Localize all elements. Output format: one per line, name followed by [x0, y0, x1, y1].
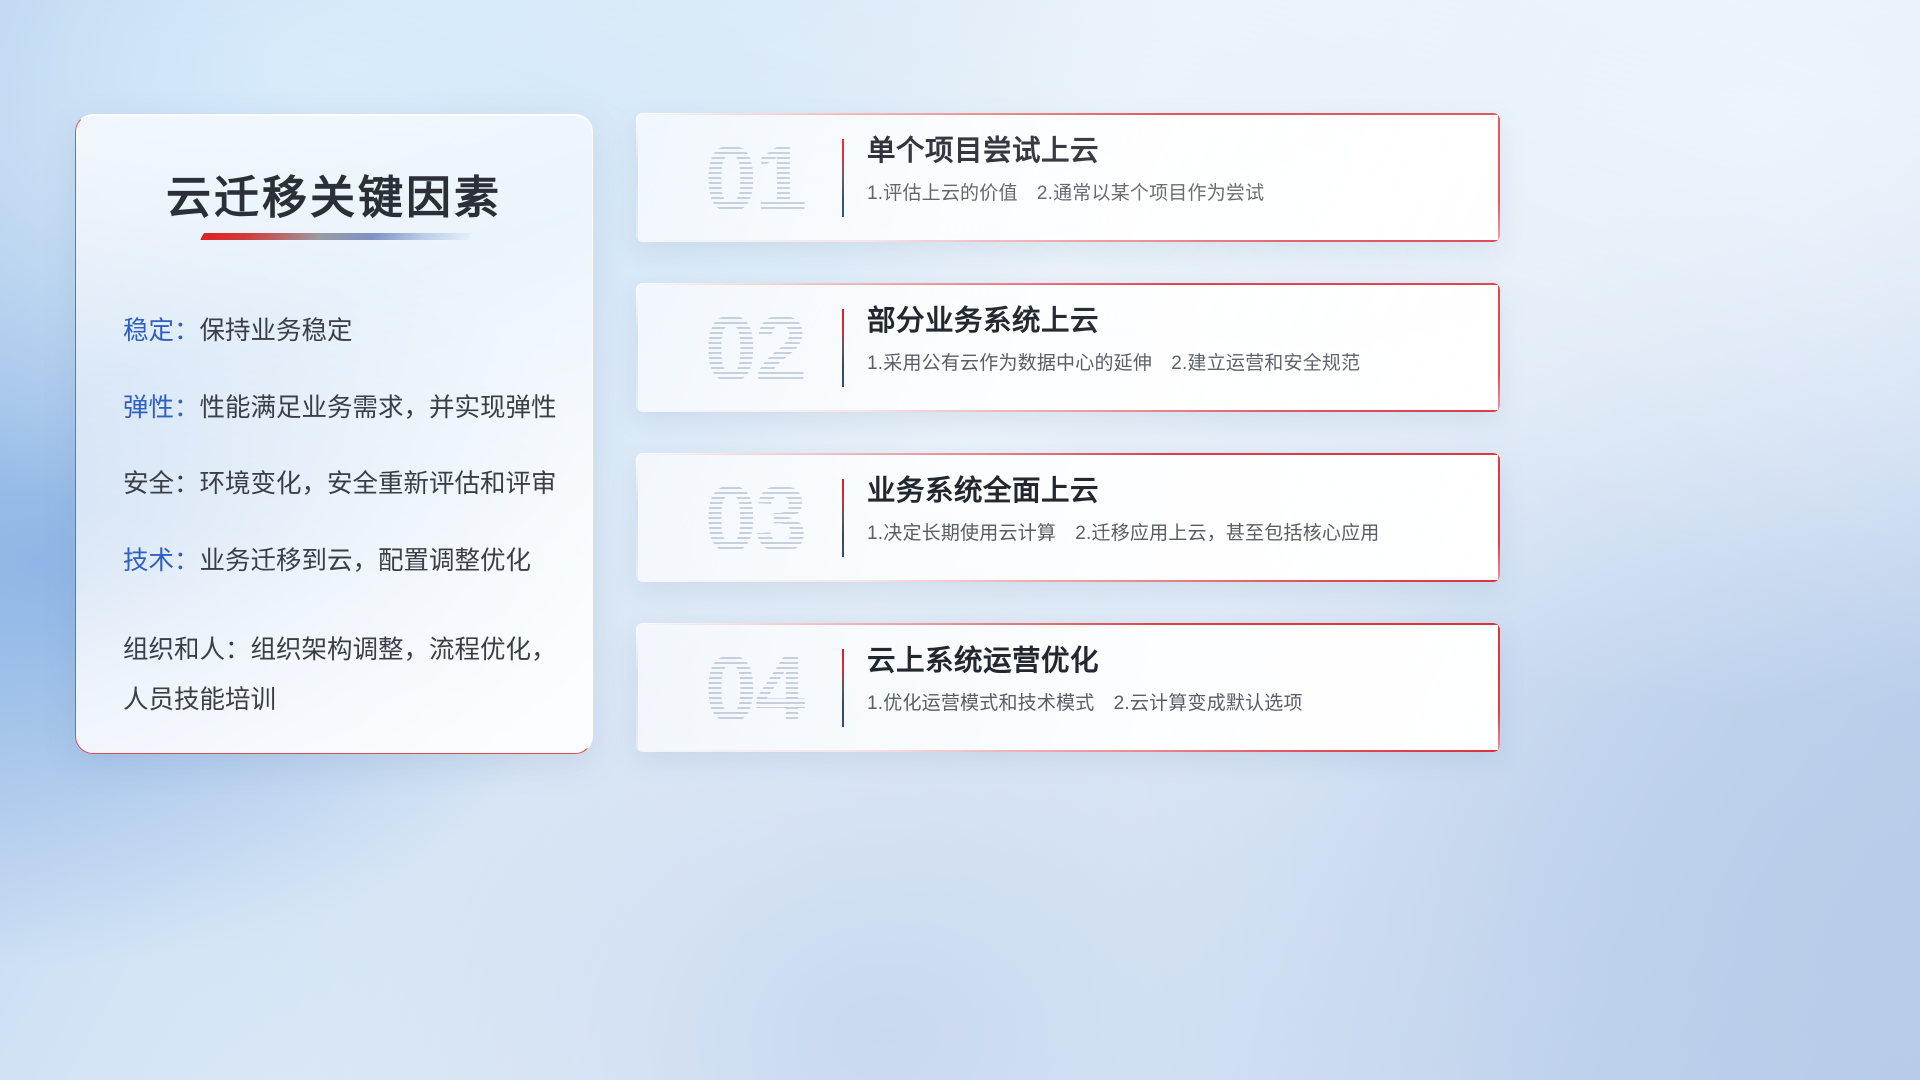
stage-number-watermark: 01 [661, 127, 849, 231]
card-top-border [636, 623, 1500, 625]
factor-key: 稳定： [123, 317, 200, 345]
list-item: 稳定：保持业务稳定 [123, 319, 564, 345]
list-item: 组织和人：组织架构调整，流程优化，人员技能培训 [123, 625, 564, 726]
factor-list: 稳定：保持业务稳定 弹性：性能满足业务需求，并实现弹性 安全：环境变化，安全重新… [123, 319, 564, 726]
card-divider-bar [842, 649, 844, 727]
card-bottom-border [636, 240, 1500, 242]
card-divider-bar [842, 309, 844, 387]
factor-key: 组织和人： [123, 636, 251, 664]
title-underline-rule [200, 233, 472, 240]
card-bottom-border [636, 750, 1500, 752]
card-left-border [636, 623, 638, 752]
factor-value: 环境变化，安全重新评估和评审 [200, 470, 557, 498]
card-divider-bar [842, 139, 844, 217]
stage-card[interactable]: 01 单个项目尝试上云 1.评估上云的价值 2.通常以某个项目作为尝试 [636, 113, 1500, 242]
stage-card[interactable]: 04 云上系统运营优化 1.优化运营模式和技术模式 2.云计算变成默认选项 [636, 623, 1500, 752]
card-top-border [636, 283, 1500, 285]
card-left-border [636, 453, 638, 582]
list-item: 安全：环境变化，安全重新评估和评审 [123, 472, 564, 498]
slide-canvas: 云迁移关键因素 稳定：保持业务稳定 弹性：性能满足业务需求，并实现弹性 安全：环… [0, 0, 1920, 1080]
card-right-border [1498, 283, 1500, 412]
card-title: 单个项目尝试上云 [867, 134, 1474, 170]
factor-value: 保持业务稳定 [200, 317, 353, 345]
card-left-border [636, 283, 638, 412]
factor-key: 安全： [123, 470, 200, 498]
card-body: 业务系统全面上云 1.决定长期使用云计算 2.迁移应用上云，甚至包括核心应用 [867, 474, 1474, 546]
card-right-border [1498, 623, 1500, 752]
page-title: 云迁移关键因素 [76, 161, 592, 226]
card-right-border [1498, 113, 1500, 242]
factor-value: 业务迁移到云，配置调整优化 [200, 547, 532, 575]
card-left-border [636, 113, 638, 242]
card-title: 业务系统全面上云 [867, 474, 1474, 510]
card-top-border [636, 453, 1500, 455]
factor-key: 弹性： [123, 394, 200, 422]
card-description: 1.优化运营模式和技术模式 2.云计算变成默认选项 [867, 692, 1474, 717]
stage-card[interactable]: 02 部分业务系统上云 1.采用公有云作为数据中心的延伸 2.建立运营和安全规范 [636, 283, 1500, 412]
factor-value: 性能满足业务需求，并实现弹性 [200, 394, 557, 422]
card-right-border [1498, 453, 1500, 582]
stage-number-watermark: 02 [661, 297, 849, 401]
factor-key: 技术： [123, 547, 200, 575]
card-bottom-border [636, 580, 1500, 582]
card-divider-bar [842, 479, 844, 557]
card-top-border [636, 113, 1500, 115]
card-body: 部分业务系统上云 1.采用公有云作为数据中心的延伸 2.建立运营和安全规范 [867, 304, 1474, 376]
card-title: 部分业务系统上云 [867, 304, 1474, 340]
stage-card[interactable]: 03 业务系统全面上云 1.决定长期使用云计算 2.迁移应用上云，甚至包括核心应… [636, 453, 1500, 582]
list-item: 弹性：性能满足业务需求，并实现弹性 [123, 396, 564, 422]
card-body: 云上系统运营优化 1.优化运营模式和技术模式 2.云计算变成默认选项 [867, 644, 1474, 716]
card-title: 云上系统运营优化 [867, 644, 1474, 680]
list-item: 技术：业务迁移到云，配置调整优化 [123, 549, 564, 575]
card-body: 单个项目尝试上云 1.评估上云的价值 2.通常以某个项目作为尝试 [867, 134, 1474, 206]
stage-number-watermark: 04 [661, 637, 849, 741]
stage-card-list: 01 单个项目尝试上云 1.评估上云的价值 2.通常以某个项目作为尝试 02 部… [636, 113, 1500, 752]
card-description: 1.决定长期使用云计算 2.迁移应用上云，甚至包括核心应用 [867, 522, 1474, 547]
card-description: 1.采用公有云作为数据中心的延伸 2.建立运营和安全规范 [867, 352, 1474, 377]
card-description: 1.评估上云的价值 2.通常以某个项目作为尝试 [867, 182, 1474, 207]
key-factors-panel: 云迁移关键因素 稳定：保持业务稳定 弹性：性能满足业务需求，并实现弹性 安全：环… [75, 114, 593, 754]
stage-number-watermark: 03 [661, 467, 849, 571]
card-bottom-border [636, 410, 1500, 412]
